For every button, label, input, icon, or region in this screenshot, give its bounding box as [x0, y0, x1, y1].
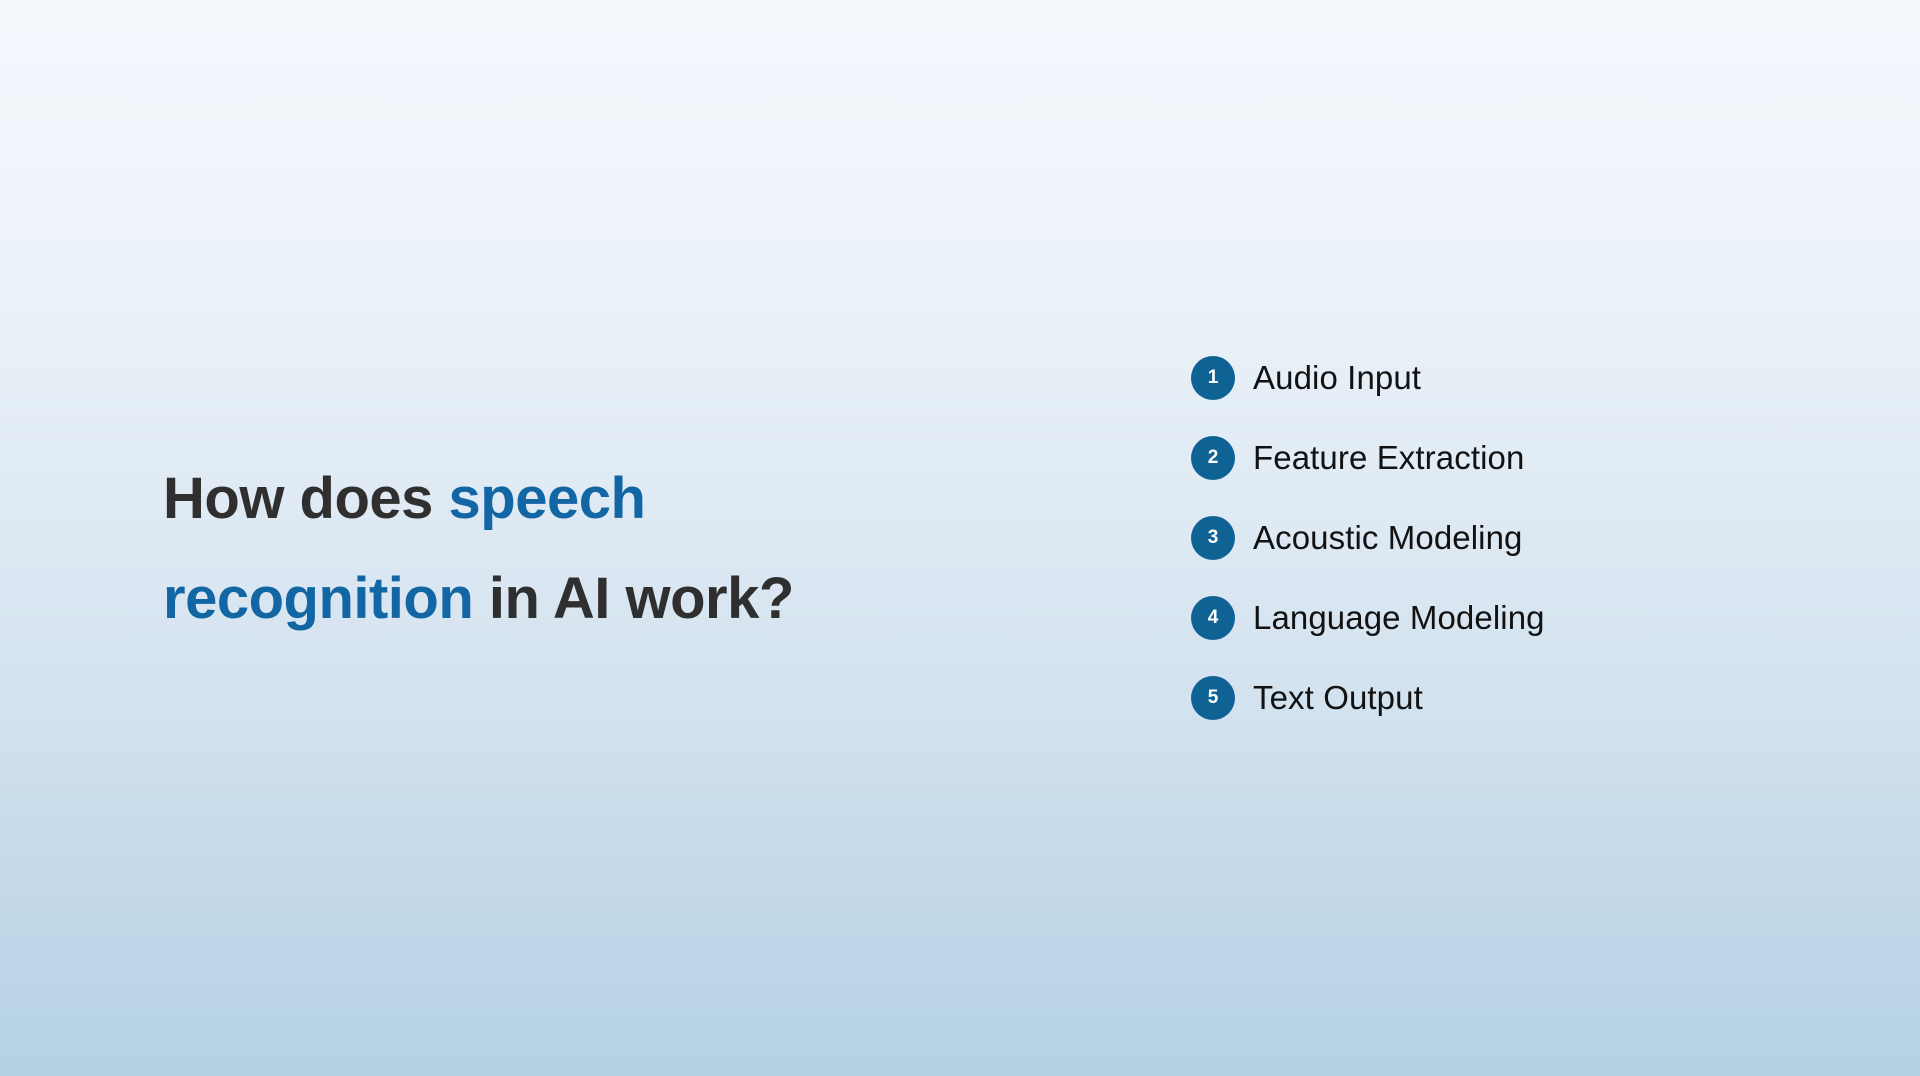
headline-segment-dark-2: in AI work? [473, 566, 794, 631]
headline: How does speech recognition in AI work? [163, 449, 993, 649]
step-label: Feature Extraction [1253, 436, 1524, 480]
step-number-badge: 1 [1191, 356, 1235, 400]
step-number-badge: 5 [1191, 676, 1235, 720]
headline-segment-accent-1: speech [449, 466, 646, 531]
headline-line-2: recognition in AI work? [163, 549, 993, 649]
headline-segment-dark-1: How does [163, 466, 449, 531]
step-number-badge: 3 [1191, 516, 1235, 560]
step-number-badge: 2 [1191, 436, 1235, 480]
slide-canvas: How does speech recognition in AI work? … [0, 0, 1920, 1076]
step-label: Acoustic Modeling [1253, 516, 1523, 560]
list-item: 2 Feature Extraction [1191, 436, 1811, 480]
step-label: Audio Input [1253, 356, 1421, 400]
step-label: Text Output [1253, 676, 1423, 720]
list-item: 4 Language Modeling [1191, 596, 1811, 640]
list-item: 1 Audio Input [1191, 356, 1811, 400]
headline-line-1: How does speech [163, 449, 993, 549]
step-label: Language Modeling [1253, 596, 1545, 640]
list-item: 5 Text Output [1191, 676, 1811, 720]
headline-segment-accent-2: recognition [163, 566, 473, 631]
step-number-badge: 4 [1191, 596, 1235, 640]
steps-list: 1 Audio Input 2 Feature Extraction 3 Aco… [1191, 356, 1811, 720]
page-title: How does speech recognition in AI work? [163, 449, 993, 649]
list-item: 3 Acoustic Modeling [1191, 516, 1811, 560]
